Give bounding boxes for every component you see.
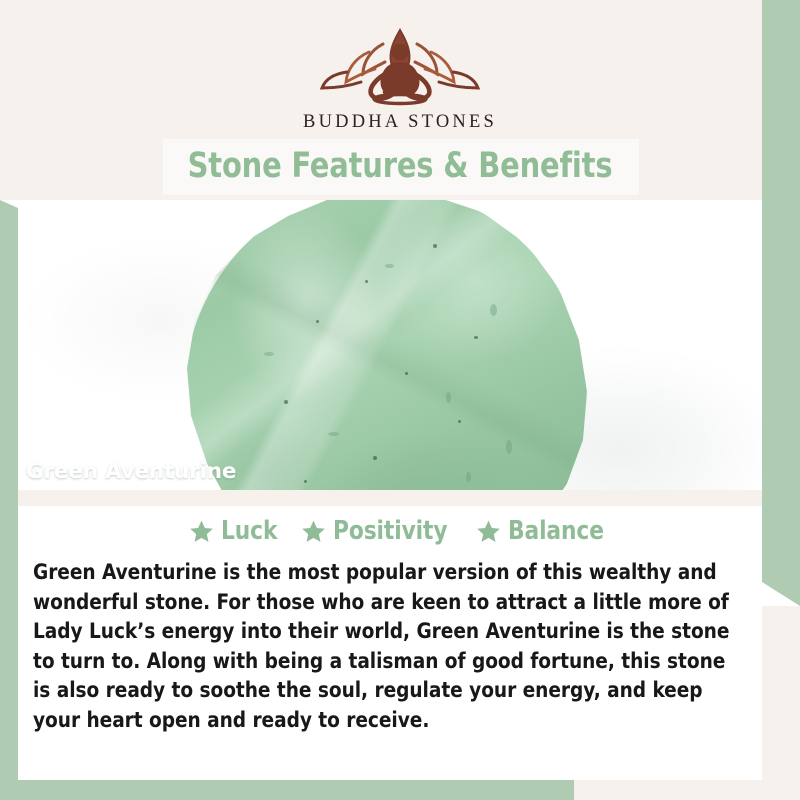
decor-corner-bottom-right: [574, 780, 800, 800]
benefit-label: Positivity: [333, 516, 447, 546]
benefits-row: Luck Positivity Balance: [0, 516, 800, 546]
brand-logo: BUDDHA STONES: [0, 22, 800, 133]
description-paragraph: Green Aventurine is the most popular ver…: [33, 558, 747, 735]
benefit-item-positivity: Positivity: [301, 516, 456, 546]
decor-corner-right-bottom: [762, 606, 800, 800]
star-icon: [189, 519, 214, 544]
decor-bar-left: [0, 200, 18, 800]
star-icon: [476, 519, 501, 544]
star-icon: [301, 519, 326, 544]
benefit-item-balance: Balance: [476, 516, 611, 546]
stone-photo: [0, 200, 800, 490]
stone-name-caption: Green Aventurine: [26, 453, 236, 491]
decor-bar-bottom: [0, 780, 594, 800]
page-title: Stone Features & Benefits: [32, 136, 768, 196]
benefit-label: Luck: [221, 516, 277, 546]
infographic-page: BUDDHA STONES Stone Features & Benefits: [0, 0, 800, 800]
brand-name: BUDDHA STONES: [303, 112, 497, 133]
decor-bar-right: [762, 0, 800, 606]
body-divider-strip: [0, 490, 800, 506]
benefit-item-luck: Luck: [189, 516, 282, 546]
benefit-label: Balance: [508, 516, 604, 546]
lotus-meditation-figure-icon: [305, 22, 495, 108]
